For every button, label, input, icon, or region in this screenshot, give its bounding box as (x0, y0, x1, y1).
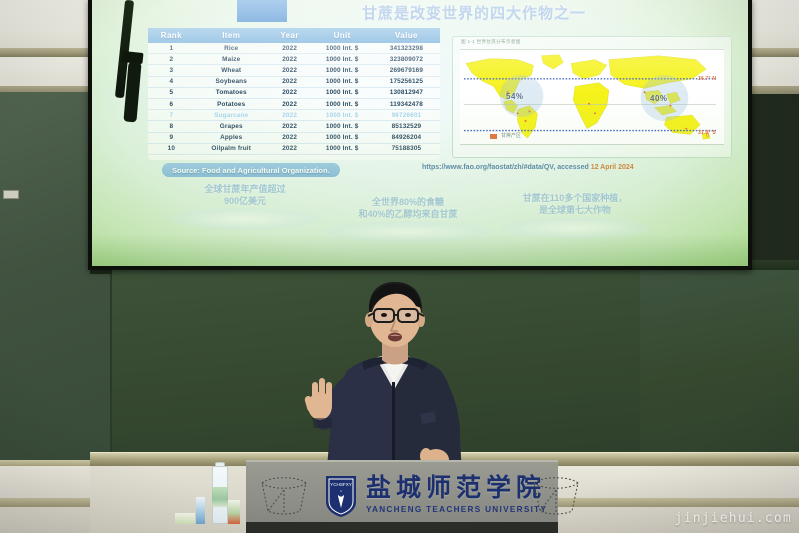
cell-item: Maize (195, 54, 268, 65)
table-row: 7Sugarcane20221000 Int. $96726601 (148, 110, 440, 121)
cell-unit: 1000 Int. $ (312, 98, 373, 109)
cell-item: Wheat (195, 65, 268, 76)
source-pill: Source: Food and Agricultural Organizati… (162, 163, 340, 177)
university-crest-icon: YCHSFXY (324, 474, 358, 518)
cell-value: 130812947 (373, 87, 440, 98)
table-body: 1Rice20221000 Int. $3413232982Maize20221… (148, 43, 440, 154)
source-access-date: 12 April 2024 (591, 164, 634, 171)
cell-item: Soybeans (195, 76, 268, 87)
map-canvas: 54% 40% 36.7° N 31.0° S 0 甘蔗产区 (460, 49, 724, 145)
th-item: Item (195, 28, 268, 43)
water-bottle-label (212, 487, 228, 507)
slide-title: 甘蔗是改变世界的四大作物之一 (304, 2, 644, 23)
cell-value: 119342478 (373, 98, 440, 109)
cell-rank: 1 (148, 43, 195, 54)
cell-rank: 5 (148, 87, 195, 98)
cell-value: 269679169 (373, 65, 440, 76)
cell-item: Grapes (195, 121, 268, 132)
svg-text:YCHSFXY: YCHSFXY (330, 482, 352, 487)
dashed-cup-logo-left-icon (258, 471, 310, 517)
fact-annual-output-value: 全球甘蔗年产值超过 900亿美元 (170, 183, 320, 207)
cell-unit: 1000 Int. $ (312, 121, 373, 132)
cell-year: 2022 (268, 132, 312, 143)
cell-rank: 3 (148, 65, 195, 76)
world-map-figure: 图 1-1 世界甘蔗分布示意图 (452, 36, 732, 158)
crop-value-table: Rank Item Year Unit Value 1Rice20221000 … (148, 28, 440, 160)
cell-unit: 1000 Int. $ (312, 132, 373, 143)
fact-shadow-1 (170, 208, 320, 230)
fact-sugar-ethanol-share: 全世界80%的食糖 和40%的乙醇均来自甘蔗 (324, 196, 492, 220)
cell-item: Apples (195, 132, 268, 143)
cell-value: 323809072 (373, 54, 440, 65)
cell-unit: 1000 Int. $ (312, 76, 373, 87)
presenter-figure (290, 278, 500, 478)
fact-shadow-2 (324, 221, 492, 243)
desk-box-small (175, 513, 195, 524)
cell-rank: 4 (148, 76, 195, 87)
cell-rank: 2 (148, 54, 195, 65)
cell-year: 2022 (268, 121, 312, 132)
cell-rank: 8 (148, 121, 195, 132)
th-value: Value (373, 28, 440, 43)
cell-unit: 1000 Int. $ (312, 54, 373, 65)
chalkboard-right (640, 270, 799, 475)
table-row: 9Apples20221000 Int. $84926204 (148, 132, 440, 143)
cell-year: 2022 (268, 76, 312, 87)
cell-item: Rice (195, 43, 268, 54)
cell-value: 96726601 (373, 110, 440, 121)
cell-unit: 1000 Int. $ (312, 43, 373, 54)
table-row: 8Grapes20221000 Int. $85132529 (148, 121, 440, 132)
table-row: 4Soybeans20221000 Int. $175256125 (148, 76, 440, 87)
fact-shadow-3 (500, 217, 650, 239)
dashed-cup-logo-right-icon (530, 471, 582, 517)
cell-value: 341323298 (373, 43, 440, 54)
cell-value: 175256125 (373, 76, 440, 87)
lectern-base (246, 522, 558, 533)
cell-year: 2022 (268, 43, 312, 54)
cell-value: 75188305 (373, 143, 440, 154)
cell-year: 2022 (268, 54, 312, 65)
source-url: https://www.fao.org/faostat/zh/#data/QV,… (422, 164, 634, 171)
cell-item: Oilpalm fruit (195, 143, 268, 154)
equator-marker: 0 (706, 133, 709, 139)
cell-item: Potatoes (195, 98, 268, 109)
projection-screen: 甘蔗是改变世界的四大作物之一 Rank Item Year Unit Value… (92, 0, 748, 266)
cell-value: 84926204 (373, 132, 440, 143)
cell-unit: 1000 Int. $ (312, 110, 373, 121)
cell-unit: 1000 Int. $ (312, 87, 373, 98)
map-legend-swatch (490, 134, 497, 139)
lecture-hall-photo: 甘蔗是改变世界的四大作物之一 Rank Item Year Unit Value… (0, 0, 799, 533)
cell-item: Sugarcane (195, 110, 268, 121)
cell-year: 2022 (268, 98, 312, 109)
fact-countries-grown: 甘蔗在110多个国家种植， 是全球第七大作物 (500, 192, 650, 216)
wall-plate (3, 190, 19, 199)
table-row: 10Oilpalm fruit20221000 Int. $75188305 (148, 143, 440, 154)
map-legend-label: 甘蔗产区 (501, 132, 521, 139)
cell-rank: 10 (148, 143, 195, 154)
photo-watermark: jinjiehui.com (675, 511, 792, 526)
table-row: 3Wheat20221000 Int. $269679169 (148, 65, 440, 76)
table-row: 1Rice20221000 Int. $341323298 (148, 43, 440, 54)
cell-year: 2022 (268, 65, 312, 76)
table-header-row: Rank Item Year Unit Value (148, 28, 440, 43)
source-url-text: https://www.fao.org/faostat/zh/#data/QV,… (422, 164, 591, 171)
cell-unit: 1000 Int. $ (312, 65, 373, 76)
university-name-en: YANCHENG TEACHERS UNIVERSITY (366, 505, 556, 514)
cell-year: 2022 (268, 110, 312, 121)
latitude-north-label: 36.7° N (698, 76, 716, 82)
cell-item: Tomatoes (195, 87, 268, 98)
university-name-cn: 盐城师范学院 (366, 476, 556, 501)
map-label-asia-pacific: 40% (650, 94, 668, 103)
cell-unit: 1000 Int. $ (312, 143, 373, 154)
table-row: 5Tomatoes20221000 Int. $130812947 (148, 87, 440, 98)
cell-rank: 6 (148, 98, 195, 109)
screen-corner-tab (237, 0, 287, 22)
table-row: 6Potatoes20221000 Int. $119342478 (148, 98, 440, 109)
cell-rank: 9 (148, 132, 195, 143)
world-map-svg (460, 50, 724, 144)
map-caption: 图 1-1 世界甘蔗分布示意图 (461, 39, 521, 45)
lectern-nameplate: 盐城师范学院 YANCHENG TEACHERS UNIVERSITY (366, 476, 556, 514)
cell-year: 2022 (268, 87, 312, 98)
desk-box-green (228, 500, 240, 524)
desk-box-blue (196, 497, 205, 524)
cell-year: 2022 (268, 143, 312, 154)
cell-value: 85132529 (373, 121, 440, 132)
cell-rank: 7 (148, 110, 195, 121)
th-year: Year (268, 28, 312, 43)
table-row: 2Maize20221000 Int. $323809072 (148, 54, 440, 65)
th-rank: Rank (148, 28, 195, 43)
th-unit: Unit (312, 28, 373, 43)
map-label-americas: 54% (506, 92, 524, 101)
